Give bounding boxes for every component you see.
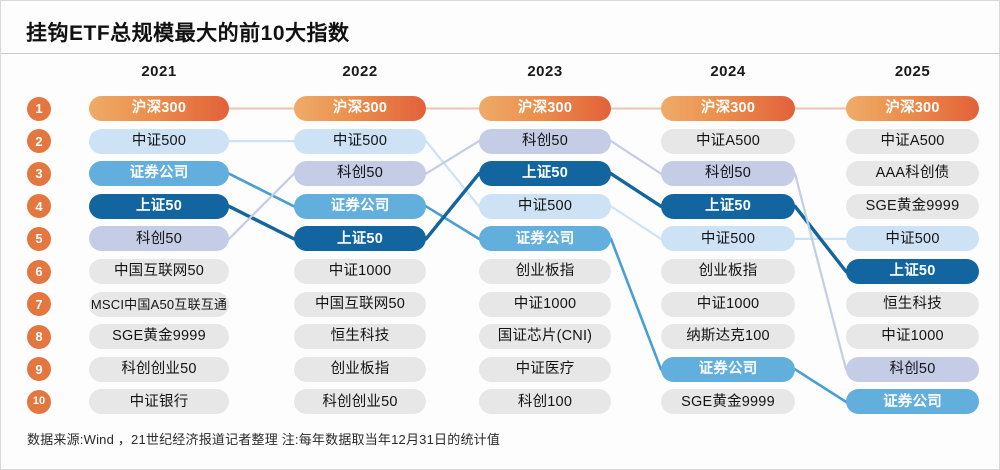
index-pill[interactable]: 纳斯达克100 xyxy=(661,324,795,349)
connector-zqgs-2023-2024 xyxy=(611,239,661,369)
index-pill[interactable]: 沪深300 xyxy=(294,96,426,121)
rank-badge-2: 2 xyxy=(27,129,51,153)
index-pill[interactable]: MSCI中国A50互联互通 xyxy=(89,292,229,317)
index-pill[interactable]: SGE黄金9999 xyxy=(89,324,229,349)
index-pill[interactable]: 中证500 xyxy=(661,226,795,251)
connector-zz500-2022-2023 xyxy=(426,141,479,206)
source-note: 数据来源:Wind ，21世纪经济报道记者整理 注:每年数据取当年12月31日的… xyxy=(27,429,500,448)
index-pill[interactable]: 中证500 xyxy=(294,129,426,154)
rank-badge-3: 3 xyxy=(27,162,51,186)
index-pill[interactable]: 中证500 xyxy=(479,194,611,219)
index-pill[interactable]: 证券公司 xyxy=(846,389,979,414)
index-pill[interactable]: 中证银行 xyxy=(89,389,229,414)
connector-kc50-2024-2025 xyxy=(795,174,846,370)
index-pill[interactable]: 中证1000 xyxy=(294,259,426,284)
connector-sz50-2023-2024 xyxy=(611,174,661,207)
index-pill[interactable]: 沪深300 xyxy=(479,96,611,121)
index-pill[interactable]: 中证医疗 xyxy=(479,357,611,382)
connector-kc50-2022-2023 xyxy=(426,141,479,174)
index-pill[interactable]: SGE黄金9999 xyxy=(661,389,795,414)
index-pill[interactable]: 科创创业50 xyxy=(294,389,426,414)
index-pill[interactable]: 科创50 xyxy=(661,161,795,186)
index-pill[interactable]: 创业板指 xyxy=(661,259,795,284)
year-header-2022: 2022 xyxy=(285,63,435,80)
year-header-2024: 2024 xyxy=(653,63,803,80)
connector-zz500-2023-2024 xyxy=(611,206,661,239)
connector-kc50-2023-2024 xyxy=(611,141,661,174)
index-pill[interactable]: 恒生科技 xyxy=(294,324,426,349)
index-pill[interactable]: 科创创业50 xyxy=(89,357,229,382)
year-header-2023: 2023 xyxy=(470,63,620,80)
index-pill[interactable]: AAA科创债 xyxy=(846,161,979,186)
connector-zqgs-2024-2025 xyxy=(795,369,846,402)
index-pill[interactable]: 中证A500 xyxy=(661,129,795,154)
connector-kc50-2021-2022 xyxy=(229,174,294,239)
year-header-2025: 2025 xyxy=(838,63,988,80)
index-pill[interactable]: 科创50 xyxy=(479,129,611,154)
index-pill[interactable]: 恒生科技 xyxy=(846,292,979,317)
index-pill[interactable]: 中证500 xyxy=(846,226,979,251)
index-pill[interactable]: 创业板指 xyxy=(479,259,611,284)
index-pill[interactable]: 沪深300 xyxy=(846,96,979,121)
rank-badge-9: 9 xyxy=(27,357,51,381)
index-pill[interactable]: 中证1000 xyxy=(846,324,979,349)
rank-badge-7: 7 xyxy=(27,292,51,316)
connector-sz50-2021-2022 xyxy=(229,206,294,239)
rank-badge-6: 6 xyxy=(27,260,51,284)
index-pill[interactable]: 中证1000 xyxy=(661,292,795,317)
rank-badge-8: 8 xyxy=(27,325,51,349)
ranking-bump-chart: 挂钩ETF总规模最大的前10大指数 20212022202320242025 1… xyxy=(0,0,1000,470)
index-pill[interactable]: 上证50 xyxy=(479,161,611,186)
page-title: 挂钩ETF总规模最大的前10大指数 xyxy=(26,17,350,47)
title-divider xyxy=(1,53,1000,54)
connector-sz50-2024-2025 xyxy=(795,206,846,271)
rank-badge-1: 1 xyxy=(27,97,51,121)
rank-badge-5: 5 xyxy=(27,227,51,251)
year-header-2021: 2021 xyxy=(84,63,234,80)
index-pill[interactable]: 证券公司 xyxy=(294,194,426,219)
index-pill[interactable]: 中证500 xyxy=(89,129,229,154)
index-pill[interactable]: 上证50 xyxy=(661,194,795,219)
index-pill[interactable]: 科创50 xyxy=(89,226,229,251)
index-pill[interactable]: 沪深300 xyxy=(89,96,229,121)
connector-zqgs-2022-2023 xyxy=(426,206,479,239)
index-pill[interactable]: 证券公司 xyxy=(89,161,229,186)
index-pill[interactable]: 科创50 xyxy=(294,161,426,186)
index-pill[interactable]: SGE黄金9999 xyxy=(846,194,979,219)
rank-badge-10: 10 xyxy=(27,390,51,414)
index-pill[interactable]: 证券公司 xyxy=(479,226,611,251)
index-pill[interactable]: 科创50 xyxy=(846,357,979,382)
rank-badge-4: 4 xyxy=(27,194,51,218)
index-pill[interactable]: 沪深300 xyxy=(661,96,795,121)
index-pill[interactable]: 中国互联网50 xyxy=(89,259,229,284)
index-pill[interactable]: 科创100 xyxy=(479,389,611,414)
index-pill[interactable]: 上证50 xyxy=(294,226,426,251)
index-pill[interactable]: 中证1000 xyxy=(479,292,611,317)
index-pill[interactable]: 上证50 xyxy=(89,194,229,219)
connector-zqgs-2021-2022 xyxy=(229,174,294,207)
index-pill[interactable]: 上证50 xyxy=(846,259,979,284)
index-pill[interactable]: 国证芯片(CNI) xyxy=(479,324,611,349)
index-pill[interactable]: 中证A500 xyxy=(846,129,979,154)
index-pill[interactable]: 证券公司 xyxy=(661,357,795,382)
connector-sz50-2022-2023 xyxy=(426,174,479,239)
index-pill[interactable]: 中国互联网50 xyxy=(294,292,426,317)
index-pill[interactable]: 创业板指 xyxy=(294,357,426,382)
